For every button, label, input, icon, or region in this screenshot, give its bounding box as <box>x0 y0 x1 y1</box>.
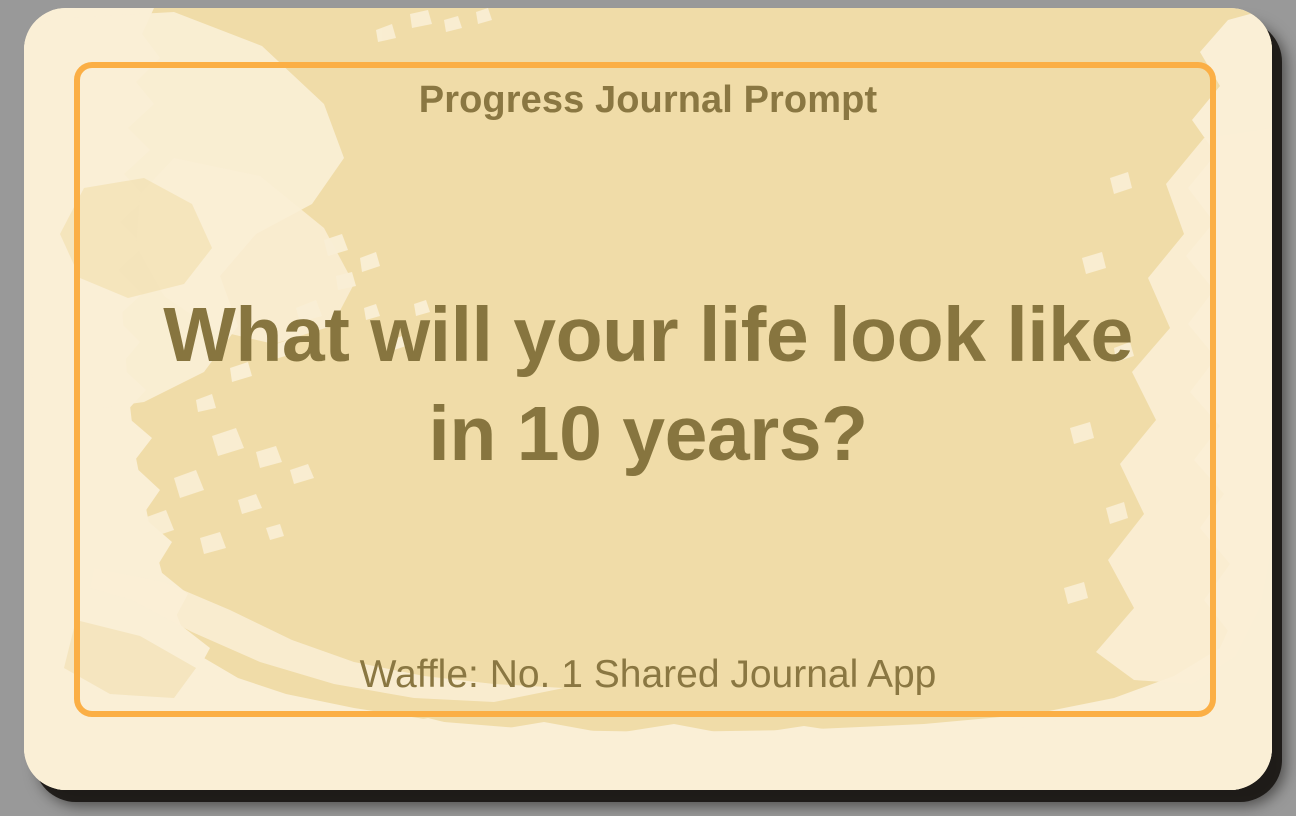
journal-prompt-card: Progress Journal Prompt What will your l… <box>24 8 1272 790</box>
prompt-kicker-label: Progress Journal Prompt <box>24 80 1272 122</box>
card-content: Progress Journal Prompt What will your l… <box>24 8 1272 790</box>
screenshot-stage: Progress Journal Prompt What will your l… <box>0 0 1296 816</box>
brand-footer-label: Waffle: No. 1 Shared Journal App <box>24 653 1272 698</box>
prompt-headline: What will your life look like in 10 year… <box>144 286 1152 483</box>
